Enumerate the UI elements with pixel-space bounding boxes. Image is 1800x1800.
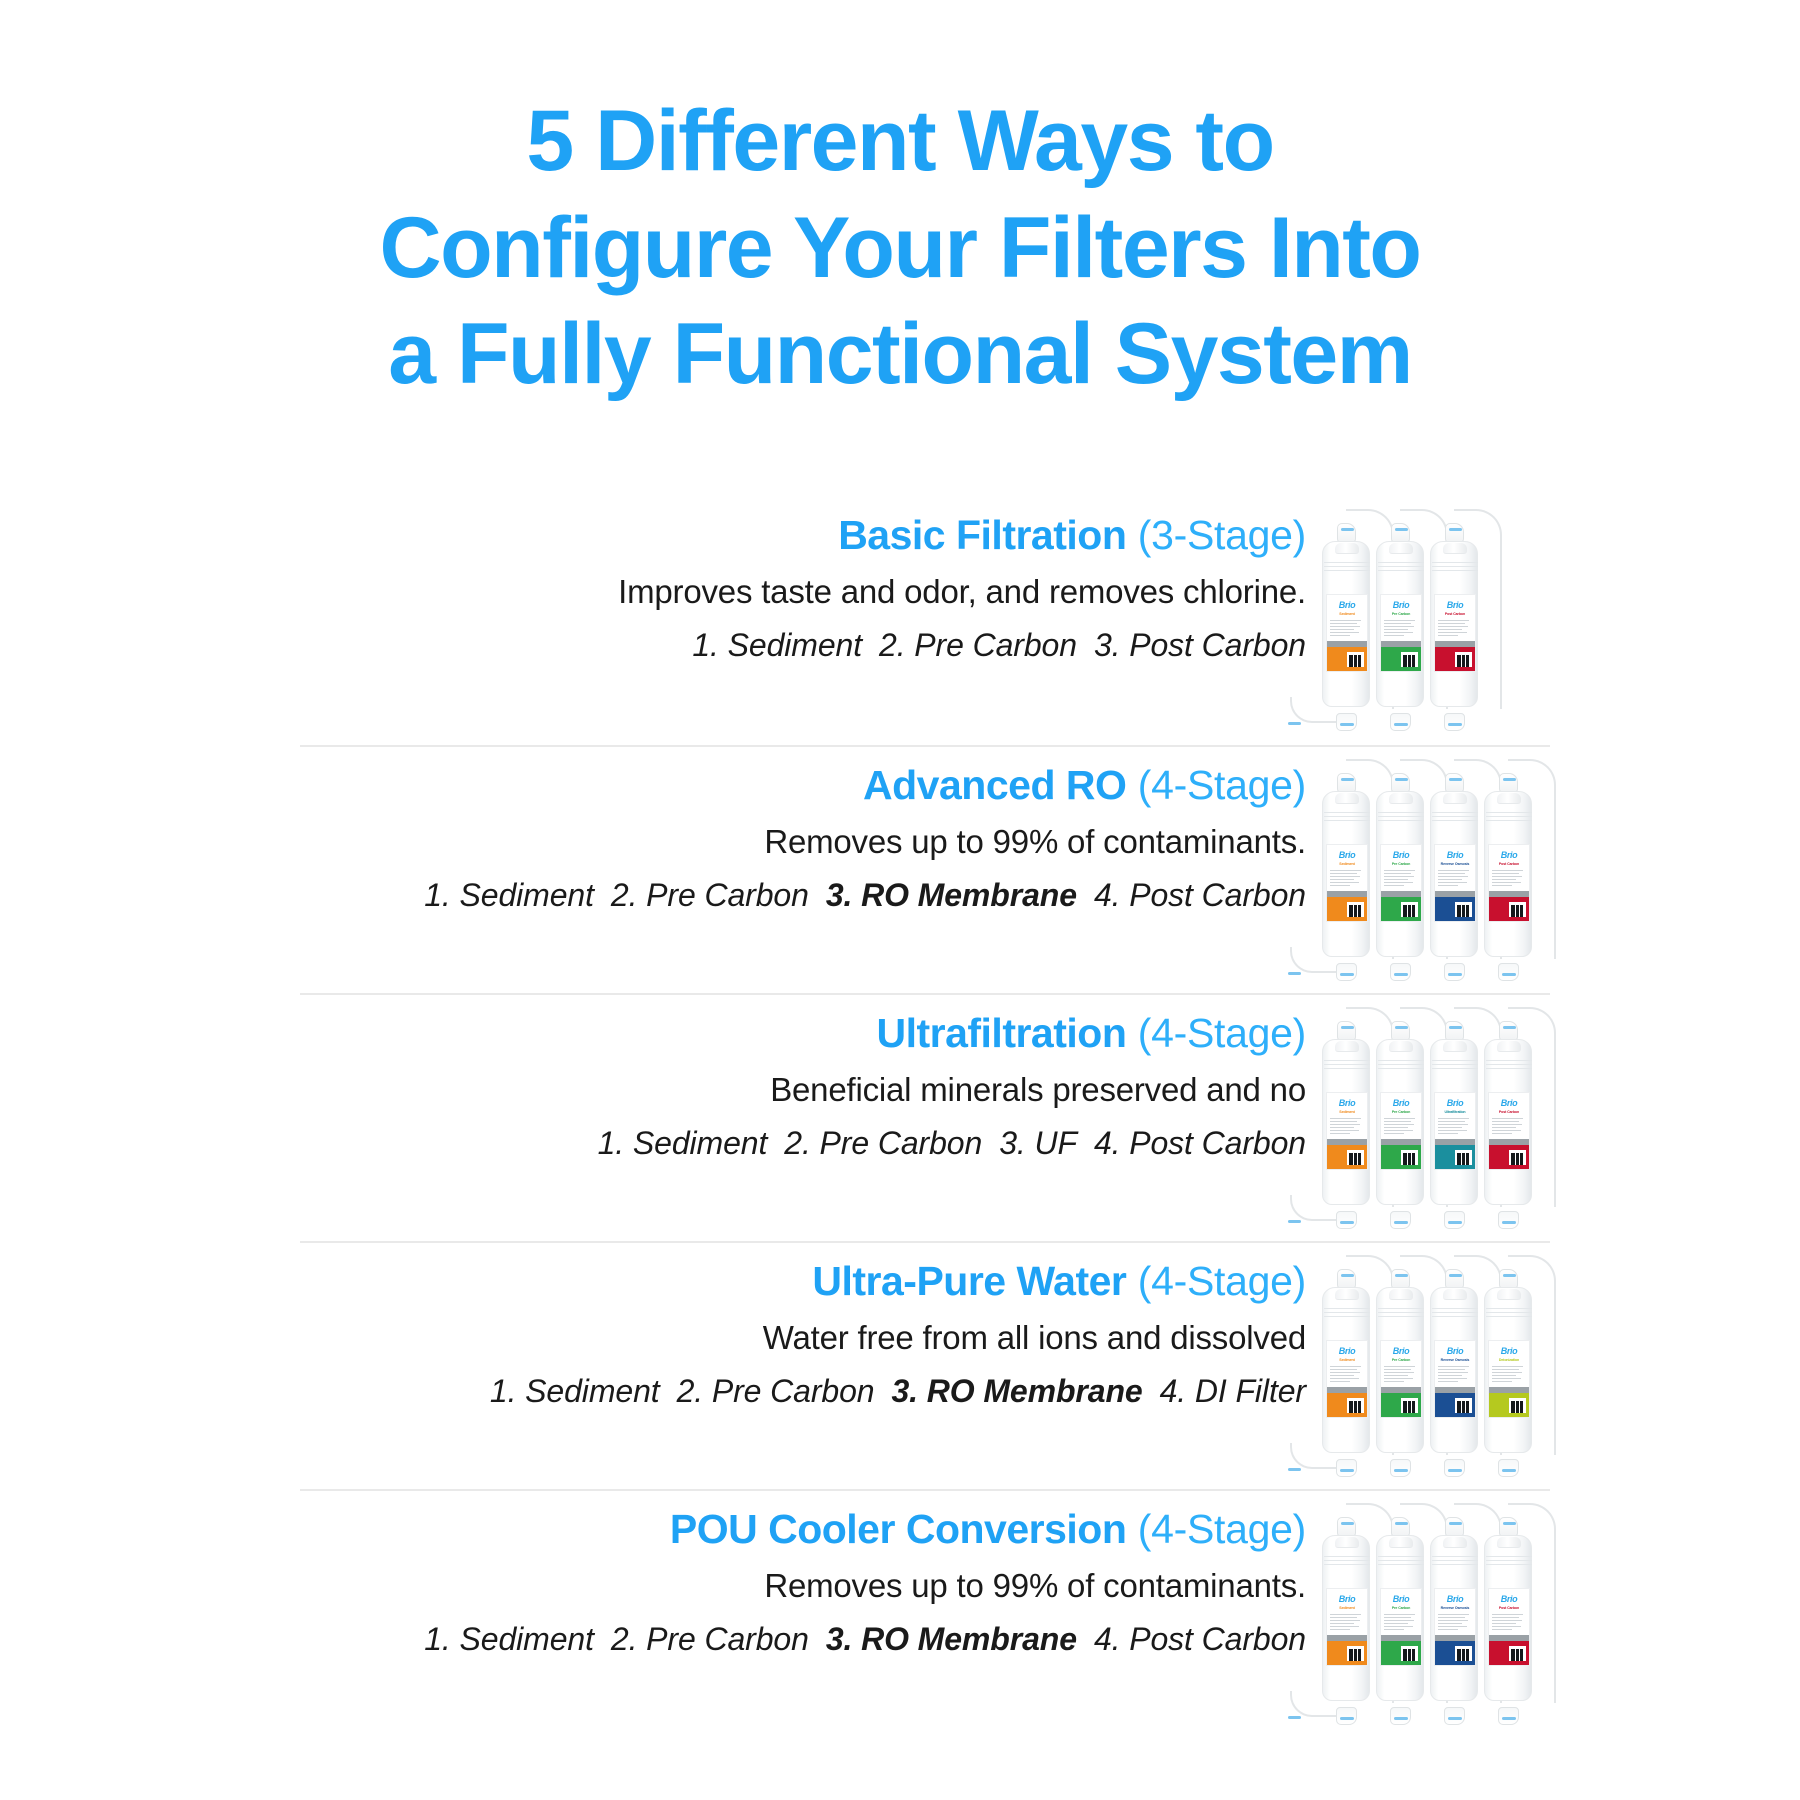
stage-item: 3. RO Membrane — [826, 877, 1077, 913]
cartridge-ridge — [1324, 1556, 1370, 1557]
cartridge-label-name: Pre Carbon — [1381, 613, 1421, 617]
label-fineprint — [1438, 1366, 1472, 1382]
label-fineprint — [1330, 1366, 1364, 1382]
section-stage-count: (3-Stage) — [1138, 512, 1306, 558]
label-color-band — [1435, 1635, 1475, 1665]
infographic-page: 5 Different Ways toConfigure Your Filter… — [0, 0, 1800, 1800]
configuration-section: Advanced RO (4-Stage)Removes up to 99% o… — [300, 745, 1550, 993]
cartridge-body: BrioPre Carbon — [1376, 1535, 1424, 1701]
bottom-fitting-icon — [1390, 1459, 1411, 1477]
bottom-fitting-icon — [1336, 713, 1357, 731]
label-fineprint — [1438, 1118, 1472, 1134]
cartridge-label: BrioReverse Osmosis — [1434, 1588, 1476, 1666]
stage-item: 3. UF — [999, 1125, 1077, 1161]
section-text: Basic Filtration (3-Stage)Improves taste… — [300, 497, 1320, 665]
cartridge-ridge — [1378, 566, 1424, 567]
cartridge-label-name: Sediment — [1327, 863, 1367, 867]
configuration-section: Ultrafiltration (4-Stage)Beneficial mine… — [300, 993, 1550, 1241]
cartridge-label: BrioSediment — [1326, 1340, 1368, 1418]
stage-item: 1. Sediment — [490, 1373, 660, 1409]
filter-cartridge: BrioPre Carbon — [1374, 521, 1426, 717]
cartridge-ridge — [1378, 1564, 1424, 1565]
cartridge-label-name: Post Carbon — [1489, 1607, 1529, 1611]
label-fineprint — [1492, 1366, 1526, 1382]
cartridge-ridge — [1432, 1064, 1478, 1065]
top-fitting-icon — [1499, 1269, 1518, 1289]
title-line-3: a Fully Functional System — [180, 301, 1620, 408]
barcode-icon — [1455, 1398, 1472, 1413]
cartridge-label: BrioPost Carbon — [1434, 594, 1476, 672]
cartridge-ridge — [1378, 1060, 1424, 1061]
stage-item: 4. DI Filter — [1160, 1373, 1306, 1409]
cartridge-label: BrioPost Carbon — [1488, 1092, 1530, 1170]
cartridge-label-name: Deionization — [1489, 1359, 1529, 1363]
label-color-band — [1381, 1387, 1421, 1417]
cartridge-label-name: Post Carbon — [1489, 863, 1529, 867]
cartridge-ridge — [1324, 1312, 1370, 1313]
configuration-section: Ultra-Pure Water (4-Stage)Water free fro… — [300, 1241, 1550, 1489]
brio-logo: Brio — [1381, 1347, 1421, 1356]
cartridge-ridge — [1324, 566, 1370, 567]
cartridge-label-name: Sediment — [1327, 613, 1367, 617]
brio-logo: Brio — [1381, 1595, 1421, 1604]
label-color-band — [1489, 1139, 1529, 1169]
cartridge-label-name: Post Carbon — [1435, 613, 1475, 617]
label-fineprint — [1384, 1118, 1418, 1134]
filter-cartridge-group: BrioSedimentBrioPre CarbonBrioReverse Os… — [1320, 1497, 1550, 1727]
label-color-band — [1489, 1635, 1529, 1665]
cartridge-label-name: Pre Carbon — [1381, 863, 1421, 867]
cartridge-neck — [1497, 1537, 1521, 1548]
filter-cartridge-group: BrioSedimentBrioPre CarbonBrioReverse Os… — [1320, 753, 1550, 983]
stage-item: 2. Pre Carbon — [611, 1621, 809, 1657]
label-fineprint — [1438, 620, 1472, 636]
cartridge-label: BrioPre Carbon — [1380, 1092, 1422, 1170]
filter-cartridge: BrioPost Carbon — [1482, 771, 1534, 967]
cartridge-body: BrioPre Carbon — [1376, 541, 1424, 707]
brio-logo: Brio — [1381, 1099, 1421, 1108]
bottom-fitting-icon — [1444, 963, 1465, 981]
bottom-fitting-icon — [1444, 713, 1465, 731]
bottom-fitting-icon — [1498, 1707, 1519, 1725]
top-fitting-icon — [1445, 523, 1464, 543]
section-stage-count: (4-Stage) — [1138, 762, 1306, 808]
cartridge-ridge — [1378, 562, 1424, 563]
brio-logo: Brio — [1381, 601, 1421, 610]
cartridge-label-name: Sediment — [1327, 1607, 1367, 1611]
cartridge-body: BrioPost Carbon — [1484, 1535, 1532, 1701]
cartridge-ridge — [1486, 1556, 1532, 1557]
filter-cartridge: BrioSediment — [1320, 1019, 1372, 1215]
label-color-band — [1435, 1139, 1475, 1169]
cartridge-neck — [1443, 1041, 1467, 1052]
cartridge-ridge — [1324, 812, 1370, 813]
brio-logo: Brio — [1489, 1347, 1529, 1356]
barcode-icon — [1401, 1398, 1418, 1413]
label-color-band — [1327, 1387, 1367, 1417]
filter-cartridge-group: BrioSedimentBrioPre CarbonBrioUltrafiltr… — [1320, 1001, 1550, 1231]
cartridge-body: BrioDeionization — [1484, 1287, 1532, 1453]
cartridge-neck — [1335, 543, 1359, 554]
label-color-band — [1327, 891, 1367, 921]
bottom-fitting-icon — [1336, 1707, 1357, 1725]
page-title: 5 Different Ways toConfigure Your Filter… — [180, 88, 1620, 408]
top-fitting-icon — [1499, 773, 1518, 793]
stage-item: 4. Post Carbon — [1094, 877, 1306, 913]
cartridge-neck — [1497, 1041, 1521, 1052]
barcode-icon — [1509, 1646, 1526, 1661]
cartridge-neck — [1335, 1537, 1359, 1548]
brio-logo: Brio — [1435, 851, 1475, 860]
cartridge-body: BrioPost Carbon — [1430, 541, 1478, 707]
bottom-fitting-icon — [1498, 963, 1519, 981]
label-color-band — [1381, 641, 1421, 671]
cartridge-ridge — [1486, 1060, 1532, 1061]
stage-item: 3. Post Carbon — [1094, 627, 1306, 663]
brio-logo: Brio — [1327, 851, 1367, 860]
cartridge-ridge — [1486, 1312, 1532, 1313]
filter-cartridge-group: BrioSedimentBrioPre CarbonBrioReverse Os… — [1320, 1249, 1550, 1479]
cartridge-ridge — [1432, 562, 1478, 563]
cartridge-ridge — [1432, 1560, 1478, 1561]
cartridge-neck — [1443, 793, 1467, 804]
label-fineprint — [1438, 870, 1472, 886]
cartridge-ridge — [1486, 1560, 1532, 1561]
barcode-icon — [1509, 1150, 1526, 1165]
label-fineprint — [1384, 1366, 1418, 1382]
section-description: Improves taste and odor, and removes chl… — [300, 571, 1306, 614]
label-color-band — [1435, 641, 1475, 671]
section-stage-list: 1. Sediment2. Pre Carbon3. Post Carbon — [300, 625, 1306, 665]
filter-cartridge: BrioReverse Osmosis — [1428, 1515, 1480, 1711]
cartridge-label: BrioPre Carbon — [1380, 844, 1422, 922]
filter-cartridge: BrioSediment — [1320, 771, 1372, 967]
cartridge-ridge — [1432, 1316, 1478, 1317]
stage-item: 3. RO Membrane — [891, 1373, 1142, 1409]
cartridge-ridge — [1432, 1068, 1478, 1069]
bottom-fitting-icon — [1390, 713, 1411, 731]
cartridge-ridge — [1486, 820, 1532, 821]
cartridge-ridge — [1324, 570, 1370, 571]
cartridge-neck — [1497, 793, 1521, 804]
title-line-2: Configure Your Filters Into — [180, 195, 1620, 302]
top-fitting-icon — [1445, 1517, 1464, 1537]
cartridge-label: BrioPre Carbon — [1380, 594, 1422, 672]
label-color-band — [1381, 1635, 1421, 1665]
label-fineprint — [1330, 620, 1364, 636]
cartridge-body: BrioPre Carbon — [1376, 791, 1424, 957]
cartridge-ridge — [1324, 816, 1370, 817]
top-fitting-icon — [1337, 523, 1356, 543]
cartridge-neck — [1443, 1537, 1467, 1548]
filter-cartridge: BrioPre Carbon — [1374, 1515, 1426, 1711]
cartridge-neck — [1389, 793, 1413, 804]
brio-logo: Brio — [1327, 1595, 1367, 1604]
cartridge-label: BrioPre Carbon — [1380, 1340, 1422, 1418]
filter-cartridge: BrioPre Carbon — [1374, 1267, 1426, 1463]
cartridge-label-name: Sediment — [1327, 1111, 1367, 1115]
brio-logo: Brio — [1489, 851, 1529, 860]
label-fineprint — [1492, 870, 1526, 886]
cartridge-body: BrioSediment — [1322, 541, 1370, 707]
cartridge-ridge — [1324, 1060, 1370, 1061]
brio-logo: Brio — [1327, 601, 1367, 610]
cartridge-neck — [1389, 1537, 1413, 1548]
top-fitting-icon — [1391, 1517, 1410, 1537]
cartridge-ridge — [1378, 570, 1424, 571]
cartridge-ridge — [1432, 816, 1478, 817]
cartridge-neck — [1389, 1289, 1413, 1300]
cartridge-ridge — [1378, 1556, 1424, 1557]
brio-logo: Brio — [1381, 851, 1421, 860]
cartridge-ridge — [1432, 1060, 1478, 1061]
barcode-icon — [1401, 1150, 1418, 1165]
cartridge-neck — [1497, 1289, 1521, 1300]
cartridge-neck — [1335, 1289, 1359, 1300]
barcode-icon — [1509, 902, 1526, 917]
cartridge-ridge — [1324, 1068, 1370, 1069]
label-color-band — [1327, 1139, 1367, 1169]
cartridge-body: BrioReverse Osmosis — [1430, 791, 1478, 957]
top-fitting-icon — [1391, 1021, 1410, 1041]
section-text: Advanced RO (4-Stage)Removes up to 99% o… — [300, 747, 1320, 915]
section-stage-count: (4-Stage) — [1138, 1010, 1306, 1056]
filter-cartridge: BrioReverse Osmosis — [1428, 771, 1480, 967]
section-name: Basic Filtration — [838, 512, 1126, 558]
cartridge-ridge — [1378, 1560, 1424, 1561]
label-color-band — [1435, 1387, 1475, 1417]
cartridge-label: BrioReverse Osmosis — [1434, 844, 1476, 922]
section-name: Advanced RO — [863, 762, 1126, 808]
stage-item: 2. Pre Carbon — [677, 1373, 875, 1409]
stage-item: 4. Post Carbon — [1094, 1621, 1306, 1657]
cartridge-label: BrioPost Carbon — [1488, 844, 1530, 922]
filter-cartridge: BrioDeionization — [1482, 1267, 1534, 1463]
cartridge-label: BrioSediment — [1326, 594, 1368, 672]
stage-item: 2. Pre Carbon — [879, 627, 1077, 663]
cartridge-ridge — [1324, 1316, 1370, 1317]
cartridge-label: BrioDeionization — [1488, 1340, 1530, 1418]
bottom-fitting-icon — [1498, 1211, 1519, 1229]
stage-item: 1. Sediment — [598, 1125, 768, 1161]
barcode-icon — [1401, 1646, 1418, 1661]
configuration-list: Basic Filtration (3-Stage)Improves taste… — [300, 497, 1550, 1737]
top-fitting-icon — [1391, 773, 1410, 793]
cartridge-body: BrioPost Carbon — [1484, 1039, 1532, 1205]
bottom-fitting-icon — [1390, 1211, 1411, 1229]
cartridge-ridge — [1432, 1312, 1478, 1313]
cartridge-label-name: Sediment — [1327, 1359, 1367, 1363]
cartridge-ridge — [1486, 812, 1532, 813]
brio-logo: Brio — [1327, 1347, 1367, 1356]
barcode-icon — [1509, 1398, 1526, 1413]
cartridge-ridge — [1324, 1064, 1370, 1065]
cartridge-neck — [1335, 793, 1359, 804]
top-fitting-icon — [1391, 523, 1410, 543]
cartridge-label-name: Pre Carbon — [1381, 1111, 1421, 1115]
bottom-fitting-icon — [1390, 1707, 1411, 1725]
barcode-icon — [1347, 652, 1364, 667]
filter-cartridge: BrioPre Carbon — [1374, 1019, 1426, 1215]
label-fineprint — [1330, 1614, 1364, 1630]
stage-item: 1. Sediment — [424, 1621, 594, 1657]
cartridge-ridge — [1378, 820, 1424, 821]
label-fineprint — [1384, 870, 1418, 886]
section-name: Ultra-Pure Water — [812, 1258, 1126, 1304]
cartridge-label-name: Reverse Osmosis — [1435, 1607, 1475, 1611]
section-heading: Ultra-Pure Water (4-Stage) — [300, 1259, 1306, 1305]
stage-item: 2. Pre Carbon — [784, 1125, 982, 1161]
filter-cartridge: BrioSediment — [1320, 1515, 1372, 1711]
stage-item: 3. RO Membrane — [826, 1621, 1077, 1657]
section-description: Water free from all ions and dissolved — [300, 1317, 1306, 1360]
label-color-band — [1327, 1635, 1367, 1665]
cartridge-ridge — [1378, 1308, 1424, 1309]
cartridge-ridge — [1324, 1560, 1370, 1561]
label-fineprint — [1330, 870, 1364, 886]
section-stage-count: (4-Stage) — [1138, 1258, 1306, 1304]
cartridge-body: BrioReverse Osmosis — [1430, 1287, 1478, 1453]
cartridge-ridge — [1432, 1564, 1478, 1565]
bottom-fitting-icon — [1336, 1211, 1357, 1229]
barcode-icon — [1455, 1150, 1472, 1165]
stage-item: 2. Pre Carbon — [611, 877, 809, 913]
cartridge-label: BrioUltrafiltration — [1434, 1092, 1476, 1170]
cartridge-ridge — [1378, 1064, 1424, 1065]
top-fitting-icon — [1445, 1021, 1464, 1041]
stage-item: 1. Sediment — [692, 627, 862, 663]
section-heading: Basic Filtration (3-Stage) — [300, 513, 1306, 559]
cartridge-neck — [1335, 1041, 1359, 1052]
cartridge-label-name: Reverse Osmosis — [1435, 1359, 1475, 1363]
brio-logo: Brio — [1489, 1099, 1529, 1108]
filter-cartridge: BrioReverse Osmosis — [1428, 1267, 1480, 1463]
section-stage-list: 1. Sediment2. Pre Carbon3. RO Membrane4.… — [300, 1619, 1306, 1659]
label-color-band — [1489, 891, 1529, 921]
cartridge-ridge — [1432, 1308, 1478, 1309]
brio-logo: Brio — [1435, 1099, 1475, 1108]
top-fitting-icon — [1337, 1021, 1356, 1041]
label-fineprint — [1492, 1118, 1526, 1134]
brio-logo: Brio — [1435, 1595, 1475, 1604]
label-fineprint — [1438, 1614, 1472, 1630]
bottom-fitting-icon — [1336, 1459, 1357, 1477]
label-color-band — [1327, 641, 1367, 671]
section-description: Removes up to 99% of contaminants. — [300, 821, 1306, 864]
cartridge-label-name: Pre Carbon — [1381, 1607, 1421, 1611]
top-fitting-icon — [1337, 1269, 1356, 1289]
section-name: POU Cooler Conversion — [670, 1506, 1127, 1552]
section-stage-count: (4-Stage) — [1138, 1506, 1306, 1552]
section-text: Ultrafiltration (4-Stage)Beneficial mine… — [300, 995, 1320, 1163]
cartridge-ridge — [1378, 816, 1424, 817]
cartridge-ridge — [1324, 1564, 1370, 1565]
filter-cartridge-group: BrioSedimentBrioPre CarbonBrioPost Carbo… — [1320, 503, 1550, 733]
cartridge-label: BrioSediment — [1326, 1092, 1368, 1170]
cartridge-ridge — [1486, 1068, 1532, 1069]
section-text: Ultra-Pure Water (4-Stage)Water free fro… — [300, 1243, 1320, 1411]
top-fitting-icon — [1391, 1269, 1410, 1289]
cartridge-ridge — [1486, 1308, 1532, 1309]
barcode-icon — [1347, 902, 1364, 917]
label-fineprint — [1492, 1614, 1526, 1630]
section-description: Removes up to 99% of contaminants. — [300, 1565, 1306, 1608]
stage-item: 4. Post Carbon — [1094, 1125, 1306, 1161]
cartridge-ridge — [1432, 566, 1478, 567]
bottom-fitting-icon — [1444, 1459, 1465, 1477]
cartridge-ridge — [1432, 570, 1478, 571]
cartridge-ridge — [1432, 812, 1478, 813]
filter-cartridge: BrioPre Carbon — [1374, 771, 1426, 967]
brio-logo: Brio — [1435, 601, 1475, 610]
cartridge-neck — [1389, 1041, 1413, 1052]
cartridge-body: BrioPre Carbon — [1376, 1287, 1424, 1453]
section-text: POU Cooler Conversion (4-Stage)Removes u… — [300, 1491, 1320, 1659]
cartridge-label-name: Pre Carbon — [1381, 1359, 1421, 1363]
cartridge-ridge — [1324, 1308, 1370, 1309]
cartridge-label: BrioPost Carbon — [1488, 1588, 1530, 1666]
section-stage-list: 1. Sediment2. Pre Carbon3. RO Membrane4.… — [300, 1371, 1306, 1411]
top-fitting-icon — [1337, 773, 1356, 793]
cartridge-ridge — [1378, 812, 1424, 813]
label-fineprint — [1384, 620, 1418, 636]
brio-logo: Brio — [1435, 1347, 1475, 1356]
bottom-fitting-icon — [1444, 1211, 1465, 1229]
barcode-icon — [1401, 902, 1418, 917]
configuration-section: POU Cooler Conversion (4-Stage)Removes u… — [300, 1489, 1550, 1737]
cartridge-ridge — [1378, 1068, 1424, 1069]
filter-cartridge: BrioUltrafiltration — [1428, 1019, 1480, 1215]
barcode-icon — [1347, 1150, 1364, 1165]
cartridge-ridge — [1378, 1312, 1424, 1313]
section-name: Ultrafiltration — [876, 1010, 1126, 1056]
filter-cartridge: BrioSediment — [1320, 521, 1372, 717]
top-fitting-icon — [1445, 773, 1464, 793]
brio-logo: Brio — [1489, 1595, 1529, 1604]
barcode-icon — [1455, 902, 1472, 917]
bottom-fitting-icon — [1336, 963, 1357, 981]
configuration-section: Basic Filtration (3-Stage)Improves taste… — [300, 497, 1550, 745]
cartridge-ridge — [1432, 820, 1478, 821]
cartridge-label: BrioSediment — [1326, 1588, 1368, 1666]
cartridge-body: BrioPre Carbon — [1376, 1039, 1424, 1205]
cartridge-body: BrioReverse Osmosis — [1430, 1535, 1478, 1701]
bottom-fitting-icon — [1390, 963, 1411, 981]
cartridge-label: BrioSediment — [1326, 844, 1368, 922]
section-heading: POU Cooler Conversion (4-Stage) — [300, 1507, 1306, 1553]
cartridge-body: BrioSediment — [1322, 1535, 1370, 1701]
filter-cartridge: BrioPost Carbon — [1482, 1019, 1534, 1215]
cartridge-ridge — [1486, 816, 1532, 817]
section-stage-list: 1. Sediment2. Pre Carbon3. UF4. Post Car… — [300, 1123, 1306, 1163]
title-line-1: 5 Different Ways to — [180, 88, 1620, 195]
filter-cartridge: BrioPost Carbon — [1428, 521, 1480, 717]
barcode-icon — [1401, 652, 1418, 667]
cartridge-body: BrioPost Carbon — [1484, 791, 1532, 957]
cartridge-ridge — [1486, 1316, 1532, 1317]
cartridge-ridge — [1432, 1556, 1478, 1557]
barcode-icon — [1347, 1646, 1364, 1661]
cartridge-ridge — [1324, 562, 1370, 563]
cartridge-neck — [1443, 543, 1467, 554]
top-fitting-icon — [1445, 1269, 1464, 1289]
cartridge-body: BrioUltrafiltration — [1430, 1039, 1478, 1205]
barcode-icon — [1455, 1646, 1472, 1661]
section-heading: Advanced RO (4-Stage) — [300, 763, 1306, 809]
label-fineprint — [1330, 1118, 1364, 1134]
top-fitting-icon — [1499, 1021, 1518, 1041]
brio-logo: Brio — [1327, 1099, 1367, 1108]
